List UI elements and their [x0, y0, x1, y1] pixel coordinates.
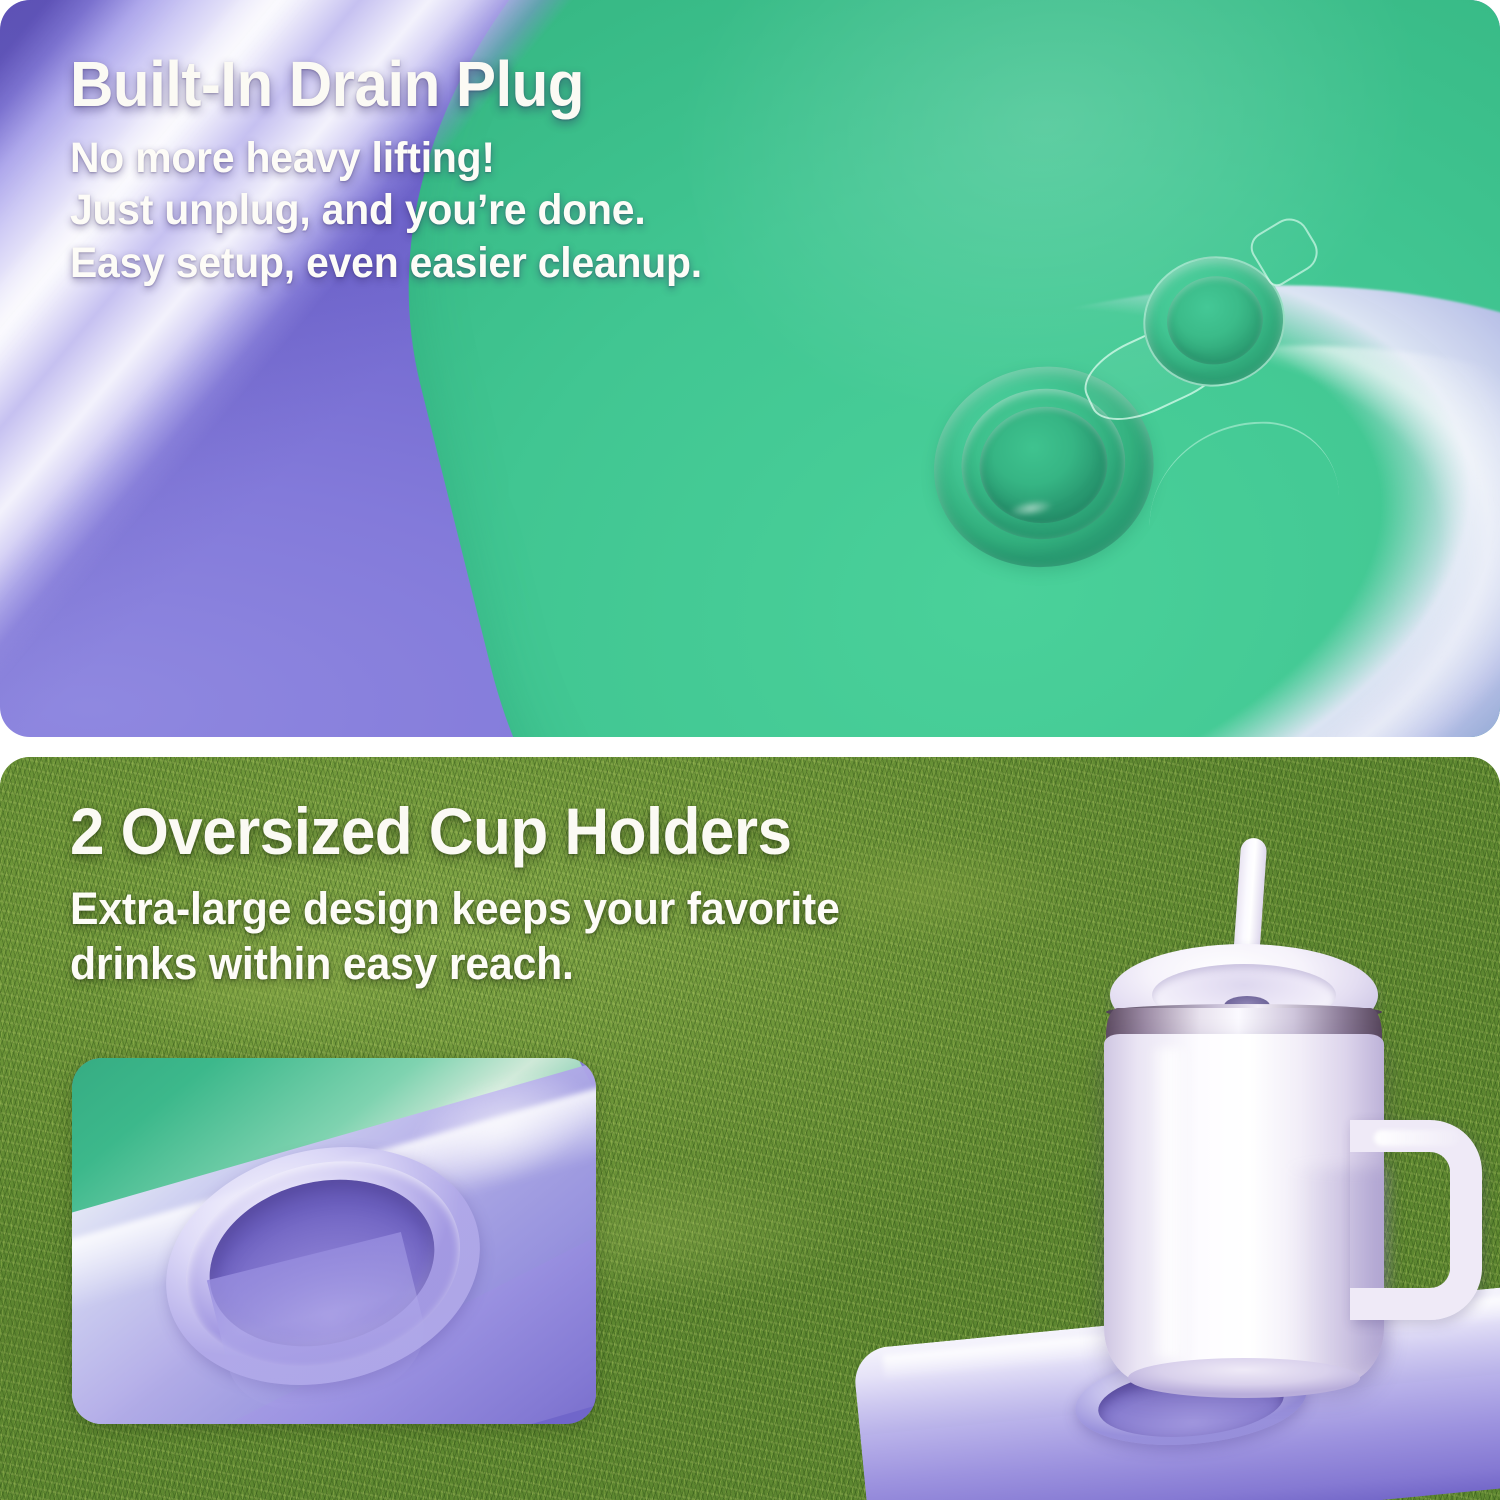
drain-plug-seam [1148, 420, 1341, 573]
product-feature-infographic: Built-In Drain Plug No more heavy liftin… [0, 0, 1500, 1500]
tumbler-handle [1350, 1120, 1482, 1320]
insulated-tumbler [1092, 838, 1492, 1398]
tumbler-body-sheen [1148, 1048, 1192, 1358]
drain-plug-subtext: No more heavy lifting! Just unplug, and … [70, 132, 1077, 289]
drain-plug-headline: Built-In Drain Plug [70, 52, 1066, 116]
drain-plug-subtext-line-3: Easy setup, even easier cleanup. [70, 237, 1077, 289]
cup-holders-headline: 2 Oversized Cup Holders [70, 798, 1066, 864]
feature-panel-drain-plug: Built-In Drain Plug No more heavy liftin… [0, 0, 1500, 737]
drain-plug-subtext-line-2: Just unplug, and you’re done. [70, 184, 1077, 236]
tumbler-handle-highlight [1374, 1130, 1460, 1146]
cup-holder-closeup-inset [72, 1058, 596, 1424]
tumbler-base [1128, 1358, 1360, 1398]
cup-holders-subtext-line-2: drinks within easy reach. [70, 937, 1077, 992]
cup-holders-subtext-line-1: Extra-large design keeps your favorite [70, 882, 1077, 937]
drain-plug-text-block: Built-In Drain Plug No more heavy liftin… [70, 52, 1130, 289]
cup-holders-subtext: Extra-large design keeps your favorite d… [70, 882, 1077, 992]
cup-holders-text-block: 2 Oversized Cup Holders Extra-large desi… [70, 798, 1130, 992]
drain-plug-subtext-line-1: No more heavy lifting! [70, 132, 1077, 184]
